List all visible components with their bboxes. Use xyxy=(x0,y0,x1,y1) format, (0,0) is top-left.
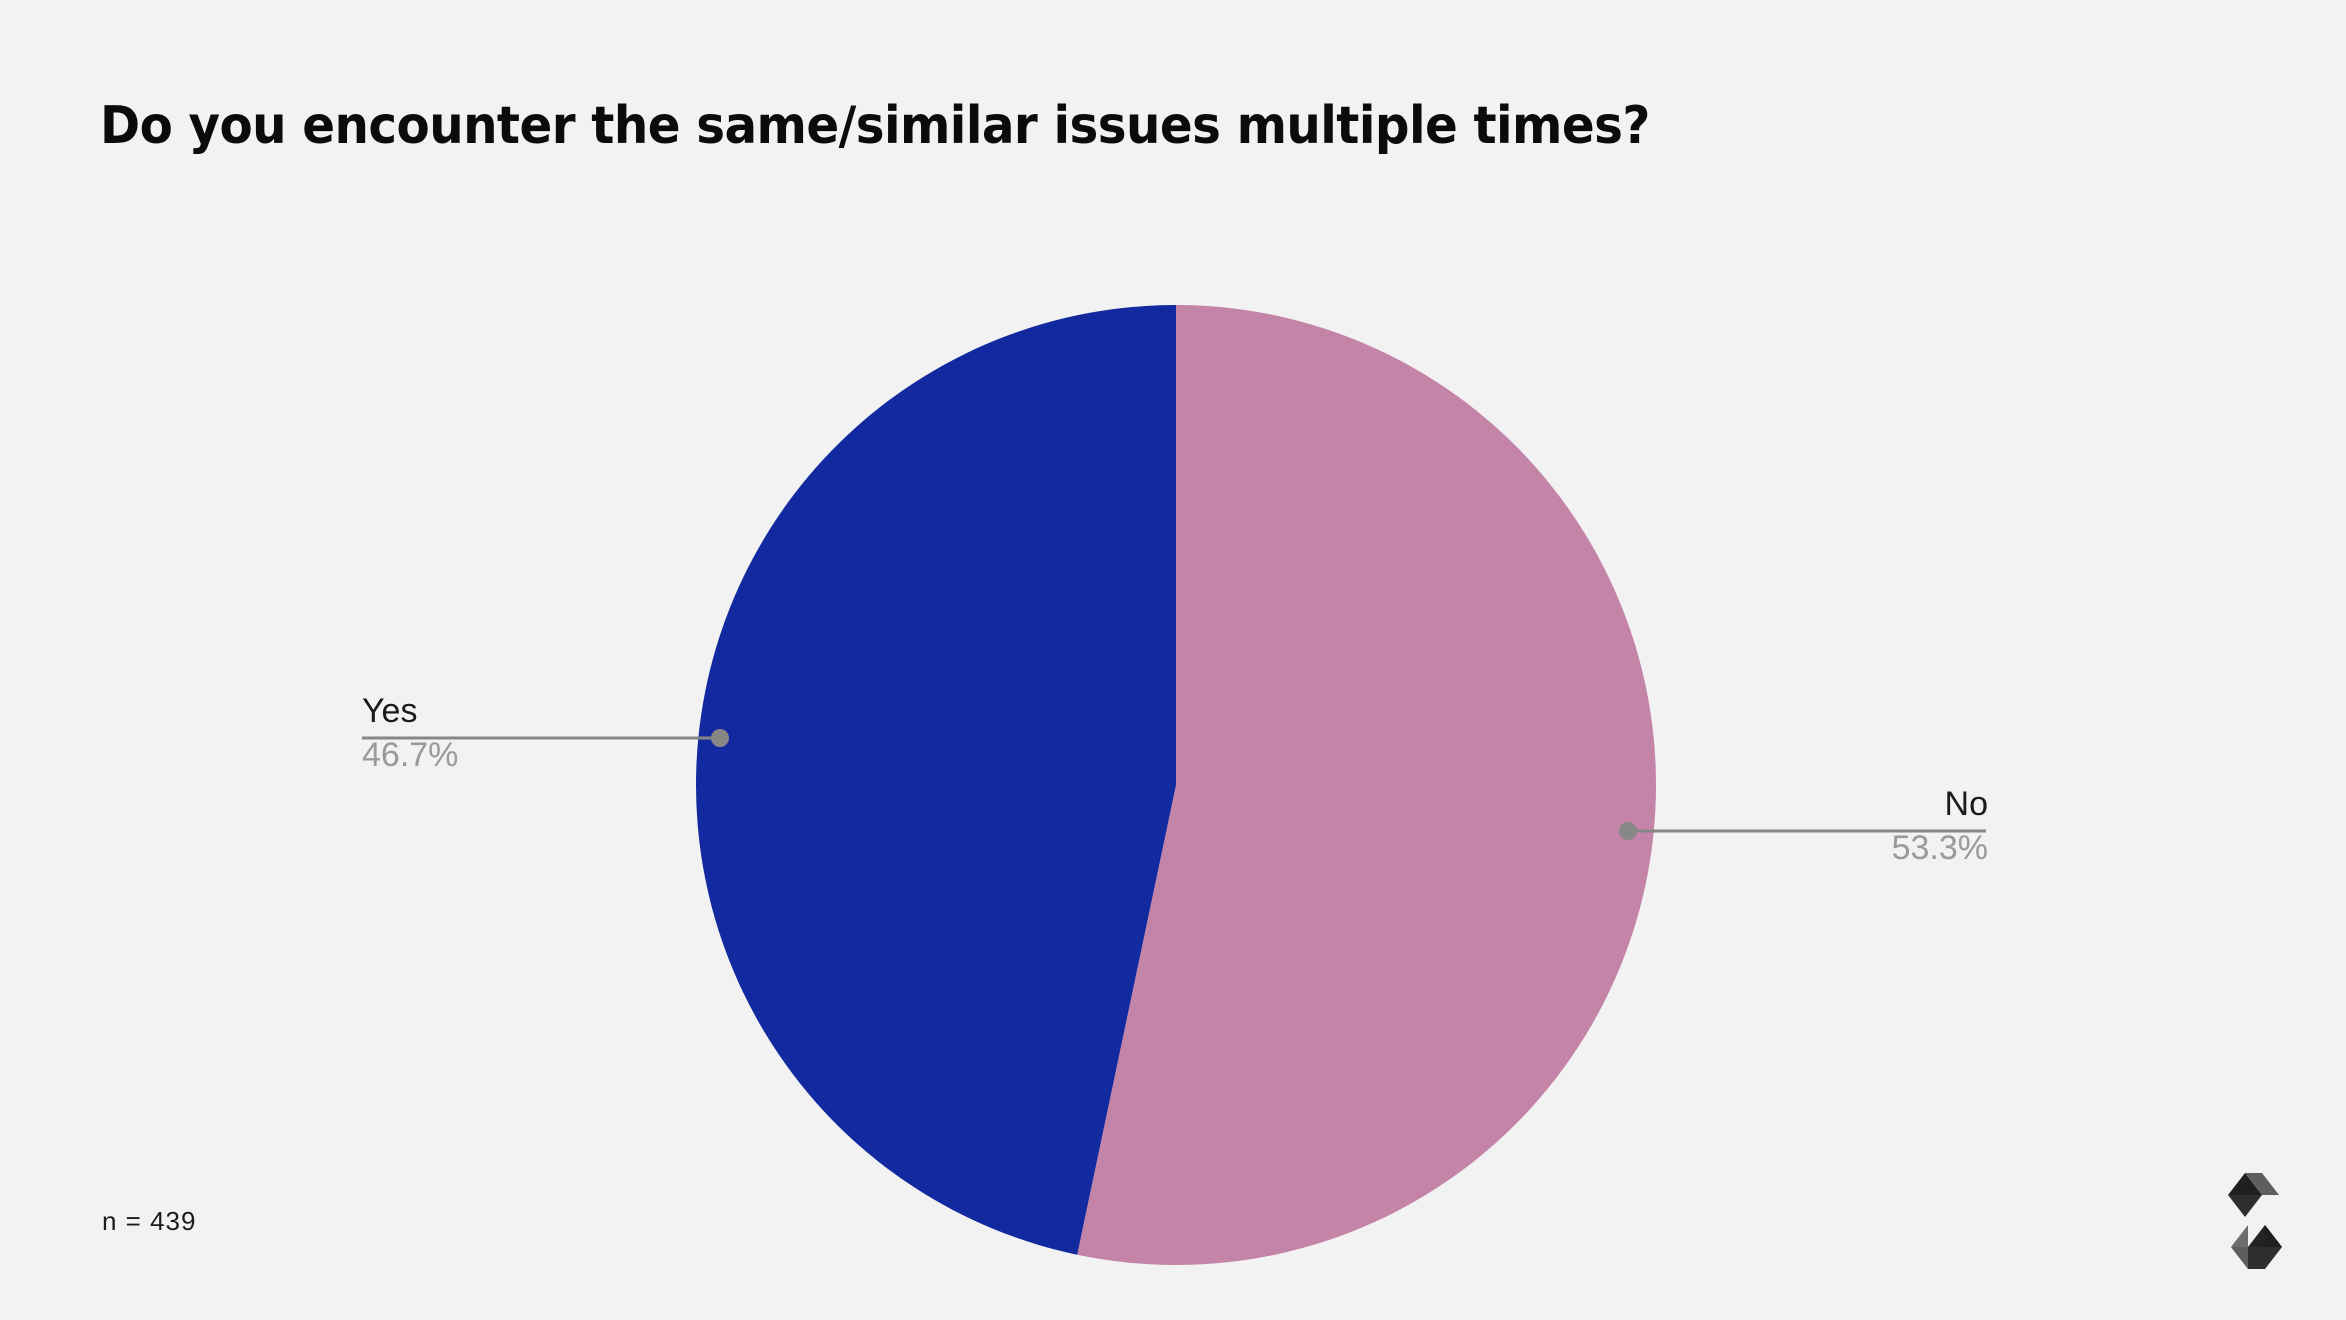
pie-chart xyxy=(0,0,2346,1320)
pie-label-no-category: No xyxy=(1628,787,1988,821)
sample-size-footnote: n = 439 xyxy=(102,1206,196,1237)
chart-canvas: Do you encounter the same/similar issues… xyxy=(0,0,2346,1320)
pie-slice-yes[interactable] xyxy=(696,305,1176,1255)
pie-label-yes: Yes 46.7% xyxy=(362,694,722,772)
pie-label-no-percent: 53.3% xyxy=(1628,831,1988,865)
company-logo-icon xyxy=(2218,1165,2292,1277)
pie-label-no: No 53.3% xyxy=(1628,787,1988,865)
pie-label-yes-category: Yes xyxy=(362,694,722,728)
pie-label-yes-percent: 46.7% xyxy=(362,738,722,772)
